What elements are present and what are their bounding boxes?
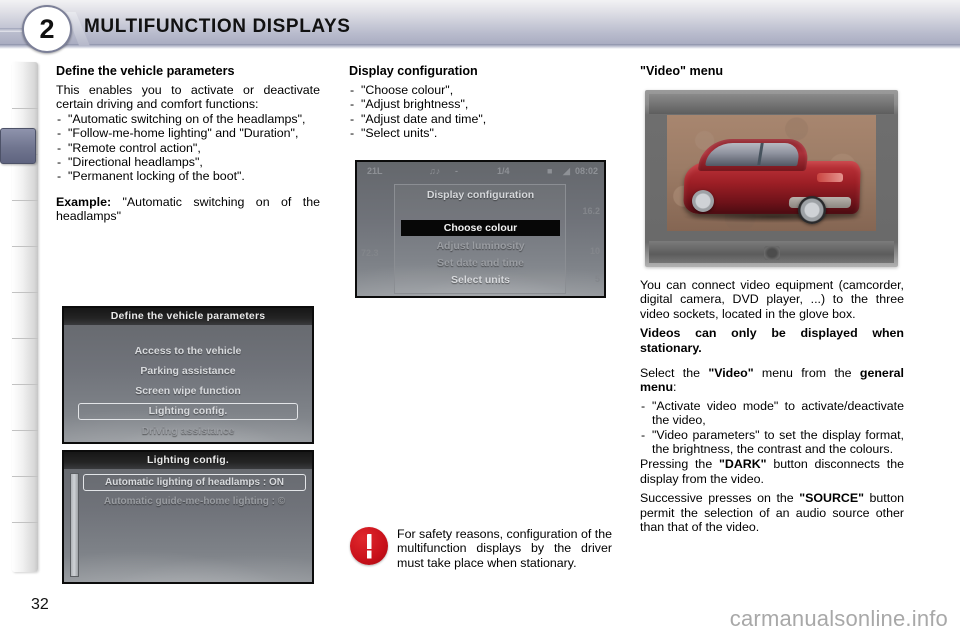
source-button-paragraph: Successive presses on the "SOURCE" butto… bbox=[640, 491, 904, 534]
right-column: "Video" menu bbox=[640, 64, 904, 83]
tab-divider bbox=[12, 200, 38, 201]
car-rear-wheel bbox=[798, 196, 826, 224]
video-options-list: "Activate video mode" to activate/deacti… bbox=[640, 399, 904, 457]
tab-divider bbox=[12, 384, 38, 385]
lcd-menu-item[interactable]: Parking assistance bbox=[78, 364, 298, 379]
lcd-menu-item-selected[interactable]: Choose colour bbox=[401, 220, 560, 236]
lcd-side-value-right-bottom: 5 bbox=[595, 274, 600, 284]
left-example-paragraph: Example: "Automatic switching on of the … bbox=[56, 195, 320, 224]
tab-divider bbox=[12, 430, 38, 431]
tab-divider bbox=[12, 476, 38, 477]
select-video-paragraph: Select the "Video" menu from the general… bbox=[640, 366, 904, 395]
video-bold-note-text: Videos can only be displayed when statio… bbox=[640, 326, 904, 354]
lcd-lighting-config-screenshot: Lighting config. Automatic lighting of h… bbox=[62, 450, 314, 584]
video-monitor-photo bbox=[645, 90, 898, 267]
lcd-background bbox=[64, 452, 312, 582]
page-title-plate: MULTIFUNCTION DISPLAYS bbox=[84, 10, 351, 44]
lcd-display-configuration-screenshot: 21L ♫♪ - 1/4 ■ ◢ 08:02 72.3 16.2 10 5 Di… bbox=[355, 160, 606, 298]
lcd-menu-item[interactable]: Select units bbox=[397, 273, 564, 288]
list-item: "Directional headlamps", bbox=[56, 155, 320, 169]
list-item: "Adjust date and time", bbox=[349, 112, 607, 126]
lcd-side-value-right-mid: 10 bbox=[590, 246, 600, 256]
dark-prefix: Pressing the bbox=[640, 457, 719, 471]
list-item: "Activate video mode" to activate/deacti… bbox=[640, 399, 904, 428]
left-section-heading: Define the vehicle parameters bbox=[56, 64, 320, 79]
lcd-menu-item-selected[interactable]: Lighting config. bbox=[78, 403, 298, 420]
lcd-menu-item[interactable]: Automatic guide-me-home lighting : © bbox=[83, 494, 306, 509]
lcd-side-value-left: 72.3 bbox=[361, 248, 379, 258]
lcd-status-bar: 21L ♫♪ - 1/4 ■ ◢ 08:02 bbox=[357, 162, 604, 182]
tab-divider bbox=[12, 338, 38, 339]
safety-warning-text: For safety reasons, configuration of the… bbox=[397, 527, 612, 570]
chapter-number: 2 bbox=[39, 16, 54, 43]
monitor-screen bbox=[667, 115, 876, 231]
status-clock: 08:02 bbox=[575, 166, 598, 176]
tab-divider bbox=[12, 246, 38, 247]
car-tail-light bbox=[817, 173, 843, 182]
select-middle: menu from the bbox=[754, 366, 860, 380]
audio-icon: ♫♪ bbox=[429, 166, 440, 176]
source-prefix: Successive presses on the bbox=[640, 491, 799, 505]
lcd-menu-item[interactable]: Access to the vehicle bbox=[78, 344, 298, 359]
video-intro-paragraph: You can connect video equipment (camcord… bbox=[640, 278, 904, 321]
battery-icon: ■ bbox=[547, 166, 552, 176]
page-header-underline bbox=[0, 44, 960, 49]
list-item: "Permanent locking of the boot". bbox=[56, 169, 320, 183]
dark-button-label: "DARK" bbox=[719, 457, 767, 471]
page-number: 32 bbox=[31, 596, 49, 614]
source-button-label: "SOURCE" bbox=[799, 491, 864, 505]
right-section-heading: "Video" menu bbox=[640, 64, 904, 79]
lcd-menu-title: Lighting config. bbox=[64, 452, 312, 469]
select-suffix: : bbox=[673, 380, 676, 394]
tab-divider bbox=[12, 108, 38, 109]
lcd-scrollbar[interactable] bbox=[70, 473, 79, 577]
middle-section-heading: Display configuration bbox=[349, 64, 607, 79]
list-item: "Follow-me-home lighting" and "Duration"… bbox=[56, 126, 320, 140]
status-temperature: 21L bbox=[367, 166, 383, 176]
tab-divider bbox=[12, 522, 38, 523]
list-item: "Select units". bbox=[349, 126, 607, 140]
status-dash: - bbox=[455, 166, 458, 176]
lcd-menu-title: Define the vehicle parameters bbox=[64, 308, 312, 325]
lcd-menu-item-selected[interactable]: Automatic lighting of headlamps : ON bbox=[83, 474, 306, 491]
video-bold-note: Videos can only be displayed when statio… bbox=[640, 326, 904, 355]
left-column: Define the vehicle parameters This enabl… bbox=[56, 64, 320, 224]
dark-button-paragraph: Pressing the "DARK" button disconnects t… bbox=[640, 457, 904, 486]
lcd-menu-item[interactable]: Screen wipe function bbox=[78, 384, 298, 399]
chapter-tab-active[interactable] bbox=[0, 128, 36, 164]
select-prefix: Select the bbox=[640, 366, 708, 380]
safety-warning-note: For safety reasons, configuration of the… bbox=[350, 527, 612, 570]
display-config-list: "Choose colour", "Adjust brightness", "A… bbox=[349, 83, 607, 141]
site-watermark: carmanualsonline.info bbox=[730, 606, 948, 632]
middle-column: Display configuration "Choose colour", "… bbox=[349, 64, 607, 141]
lcd-menu-title: Display configuration bbox=[397, 188, 564, 203]
monitor-top-bezel bbox=[649, 94, 894, 114]
right-column-body: You can connect video equipment (camcord… bbox=[640, 278, 904, 535]
list-item: "Remote control action", bbox=[56, 141, 320, 155]
list-item: "Video parameters" to set the display fo… bbox=[640, 428, 904, 457]
example-label: Example: bbox=[56, 195, 111, 209]
page-title: MULTIFUNCTION DISPLAYS bbox=[84, 16, 351, 38]
car-front-wheel bbox=[692, 190, 714, 212]
lcd-menu-item[interactable]: Adjust luminosity bbox=[397, 239, 564, 254]
list-item: "Adjust brightness", bbox=[349, 97, 607, 111]
list-item: "Automatic switching on of the headlamps… bbox=[56, 112, 320, 126]
lcd-vehicle-parameters-screenshot: Define the vehicle parameters Access to … bbox=[62, 306, 314, 444]
monitor-brand-logo bbox=[764, 246, 780, 260]
lcd-menu-item[interactable]: Set date and time bbox=[397, 256, 564, 271]
warning-exclamation-icon bbox=[350, 527, 388, 565]
car-window-glass bbox=[705, 143, 801, 166]
left-intro-paragraph: This enables you to activate or deactiva… bbox=[56, 83, 320, 112]
chapter-number-badge: 2 bbox=[22, 5, 72, 53]
left-feature-list: "Automatic switching on of the headlamps… bbox=[56, 112, 320, 184]
signal-icon: ◢ bbox=[563, 166, 570, 177]
tab-divider bbox=[12, 292, 38, 293]
status-track: 1/4 bbox=[497, 166, 510, 176]
select-video-label: "Video" bbox=[708, 366, 753, 380]
list-item: "Choose colour", bbox=[349, 83, 607, 97]
lcd-side-value-right-top: 16.2 bbox=[582, 206, 600, 216]
lcd-menu-item[interactable]: Driving assistance bbox=[78, 424, 298, 439]
